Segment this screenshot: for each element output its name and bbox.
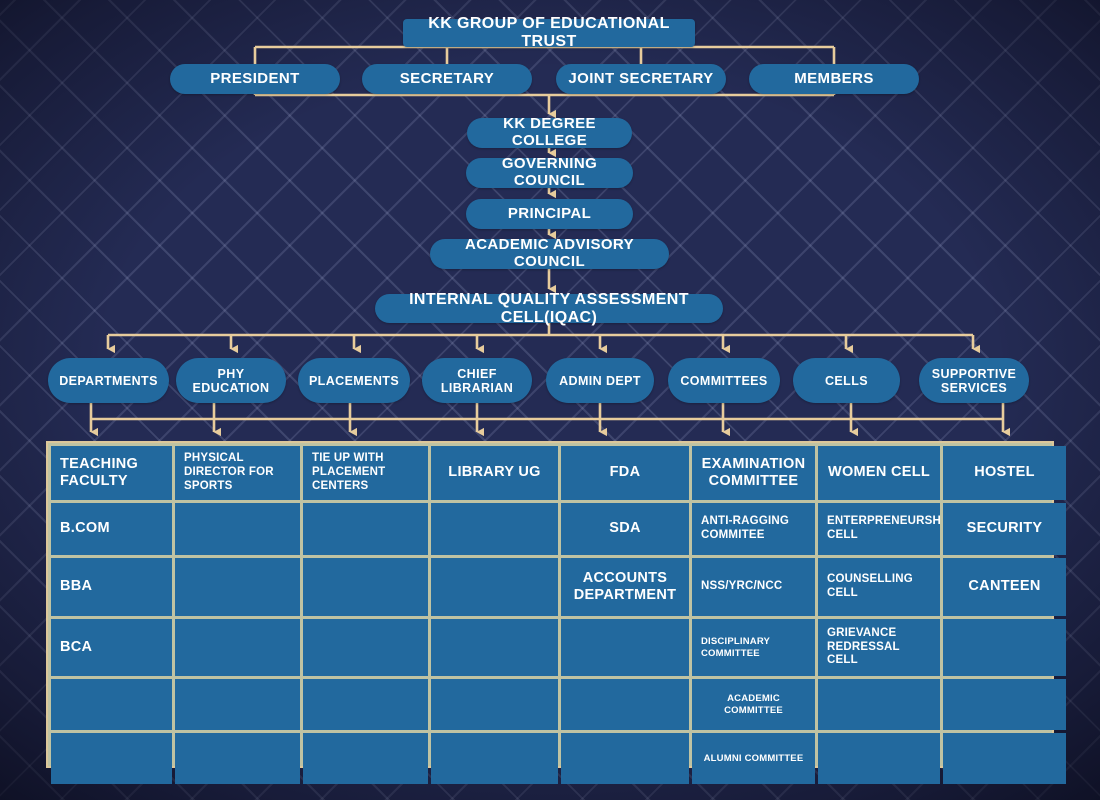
- matrix-cell-departments-b-com[interactable]: B.COM: [51, 503, 172, 555]
- org-chart: KK GROUP OF EDUCATIONAL TRUST PRESIDENT …: [0, 0, 1100, 800]
- matrix-cell-departments-empty: [51, 733, 172, 784]
- node-placements[interactable]: PLACEMENTS: [298, 358, 410, 403]
- matrix-cell-admin-dept-empty: [561, 679, 689, 730]
- node-departments[interactable]: DEPARTMENTS: [48, 358, 169, 403]
- matrix-cell-placements-tie-up-with-placement-centers[interactable]: TIE UP WITH PLACEMENT CENTERS: [303, 446, 428, 500]
- node-committees[interactable]: COMMITTEES: [668, 358, 780, 403]
- matrix-cell-supportive-services-empty: [943, 619, 1066, 676]
- matrix-cell-phy-education-physical-director-for-sports[interactable]: PHYSICAL DIRECTOR FOR SPORTS: [175, 446, 300, 500]
- matrix-cell-departments-empty: [51, 679, 172, 730]
- matrix-cell-committees-disciplinary-committee[interactable]: DISCIPLINARY COMMITTEE: [692, 619, 815, 676]
- node-admin-dept[interactable]: ADMIN DEPT: [546, 358, 654, 403]
- matrix-cell-chief-librarian-empty: [431, 733, 558, 784]
- matrix-cell-departments-bca[interactable]: BCA: [51, 619, 172, 676]
- responsibility-matrix-table: TEACHING FACULTYPHYSICAL DIRECTOR FOR SP…: [46, 441, 1054, 768]
- matrix-cell-committees-alumni-committee[interactable]: ALUMNI COMMITTEE: [692, 733, 815, 784]
- node-members[interactable]: MEMBERS: [749, 64, 919, 94]
- matrix-cell-departments-bba[interactable]: BBA: [51, 558, 172, 616]
- matrix-cell-committees-nss-yrc-ncc[interactable]: NSS/YRC/NCC: [692, 558, 815, 616]
- node-chief-librarian[interactable]: CHIEF LIBRARIAN: [422, 358, 532, 403]
- matrix-cell-committees-anti-ragging-commitee[interactable]: ANTI-RAGGING COMMITEE: [692, 503, 815, 555]
- node-secretary[interactable]: SECRETARY: [362, 64, 532, 94]
- matrix-cell-placements-empty: [303, 733, 428, 784]
- matrix-cell-admin-dept-accounts-department[interactable]: ACCOUNTS DEPARTMENT: [561, 558, 689, 616]
- matrix-cell-chief-librarian-empty: [431, 558, 558, 616]
- matrix-cell-phy-education-empty: [175, 558, 300, 616]
- node-governing-council[interactable]: GOVERNING COUNCIL: [466, 158, 633, 188]
- matrix-cell-cells-women-cell[interactable]: WOMEN CELL: [818, 446, 940, 500]
- node-academic-advisory-council[interactable]: ACADEMIC ADVISORY COUNCIL: [430, 239, 669, 269]
- node-kk-group-of-educational-trust[interactable]: KK GROUP OF EDUCATIONAL TRUST: [403, 19, 695, 47]
- matrix-cell-supportive-services-empty: [943, 733, 1066, 784]
- matrix-cell-cells-grievance-redressal-cell[interactable]: GRIEVANCE REDRESSAL CELL: [818, 619, 940, 676]
- matrix-cell-placements-empty: [303, 679, 428, 730]
- node-internal-quality-assessment-cell-iqac[interactable]: INTERNAL QUALITY ASSESSMENT CELL(IQAC): [375, 294, 723, 323]
- matrix-cell-admin-dept-empty: [561, 733, 689, 784]
- matrix-cell-committees-academic-committee[interactable]: ACADEMIC COMMITTEE: [692, 679, 815, 730]
- matrix-cell-supportive-services-hostel[interactable]: HOSTEL: [943, 446, 1066, 500]
- matrix-cell-supportive-services-canteen[interactable]: CANTEEN: [943, 558, 1066, 616]
- matrix-cell-phy-education-empty: [175, 503, 300, 555]
- matrix-cell-cells-counselling-cell[interactable]: COUNSELLING CELL: [818, 558, 940, 616]
- matrix-cell-chief-librarian-empty: [431, 503, 558, 555]
- matrix-cell-admin-dept-sda[interactable]: SDA: [561, 503, 689, 555]
- node-principal[interactable]: PRINCIPAL: [466, 199, 633, 229]
- matrix-cell-phy-education-empty: [175, 619, 300, 676]
- matrix-cell-supportive-services-security[interactable]: SECURITY: [943, 503, 1066, 555]
- matrix-cell-cells-empty: [818, 679, 940, 730]
- matrix-cell-supportive-services-empty: [943, 679, 1066, 730]
- matrix-cell-committees-examination-committee[interactable]: EXAMINATION COMMITTEE: [692, 446, 815, 500]
- node-president[interactable]: PRESIDENT: [170, 64, 340, 94]
- matrix-cell-admin-dept-fda[interactable]: FDA: [561, 446, 689, 500]
- node-cells[interactable]: CELLS: [793, 358, 900, 403]
- matrix-cell-cells-enterpreneurship-cell[interactable]: ENTERPRENEURSHIP CELL: [818, 503, 940, 555]
- matrix-cell-departments-teaching-faculty[interactable]: TEACHING FACULTY: [51, 446, 172, 500]
- matrix-cell-phy-education-empty: [175, 679, 300, 730]
- matrix-cell-phy-education-empty: [175, 733, 300, 784]
- node-kk-degree-college[interactable]: KK DEGREE COLLEGE: [467, 118, 632, 148]
- matrix-cell-placements-empty: [303, 558, 428, 616]
- matrix-cell-chief-librarian-empty: [431, 679, 558, 730]
- matrix-cell-placements-empty: [303, 503, 428, 555]
- node-supportive-services[interactable]: SUPPORTIVE SERVICES: [919, 358, 1029, 403]
- matrix-cell-chief-librarian-empty: [431, 619, 558, 676]
- matrix-cell-admin-dept-empty: [561, 619, 689, 676]
- node-joint-secretary[interactable]: JOINT SECRETARY: [556, 64, 726, 94]
- node-phy-education[interactable]: PHY EDUCATION: [176, 358, 286, 403]
- matrix-cell-cells-empty: [818, 733, 940, 784]
- matrix-cell-chief-librarian-library-ug[interactable]: LIBRARY UG: [431, 446, 558, 500]
- matrix-cell-placements-empty: [303, 619, 428, 676]
